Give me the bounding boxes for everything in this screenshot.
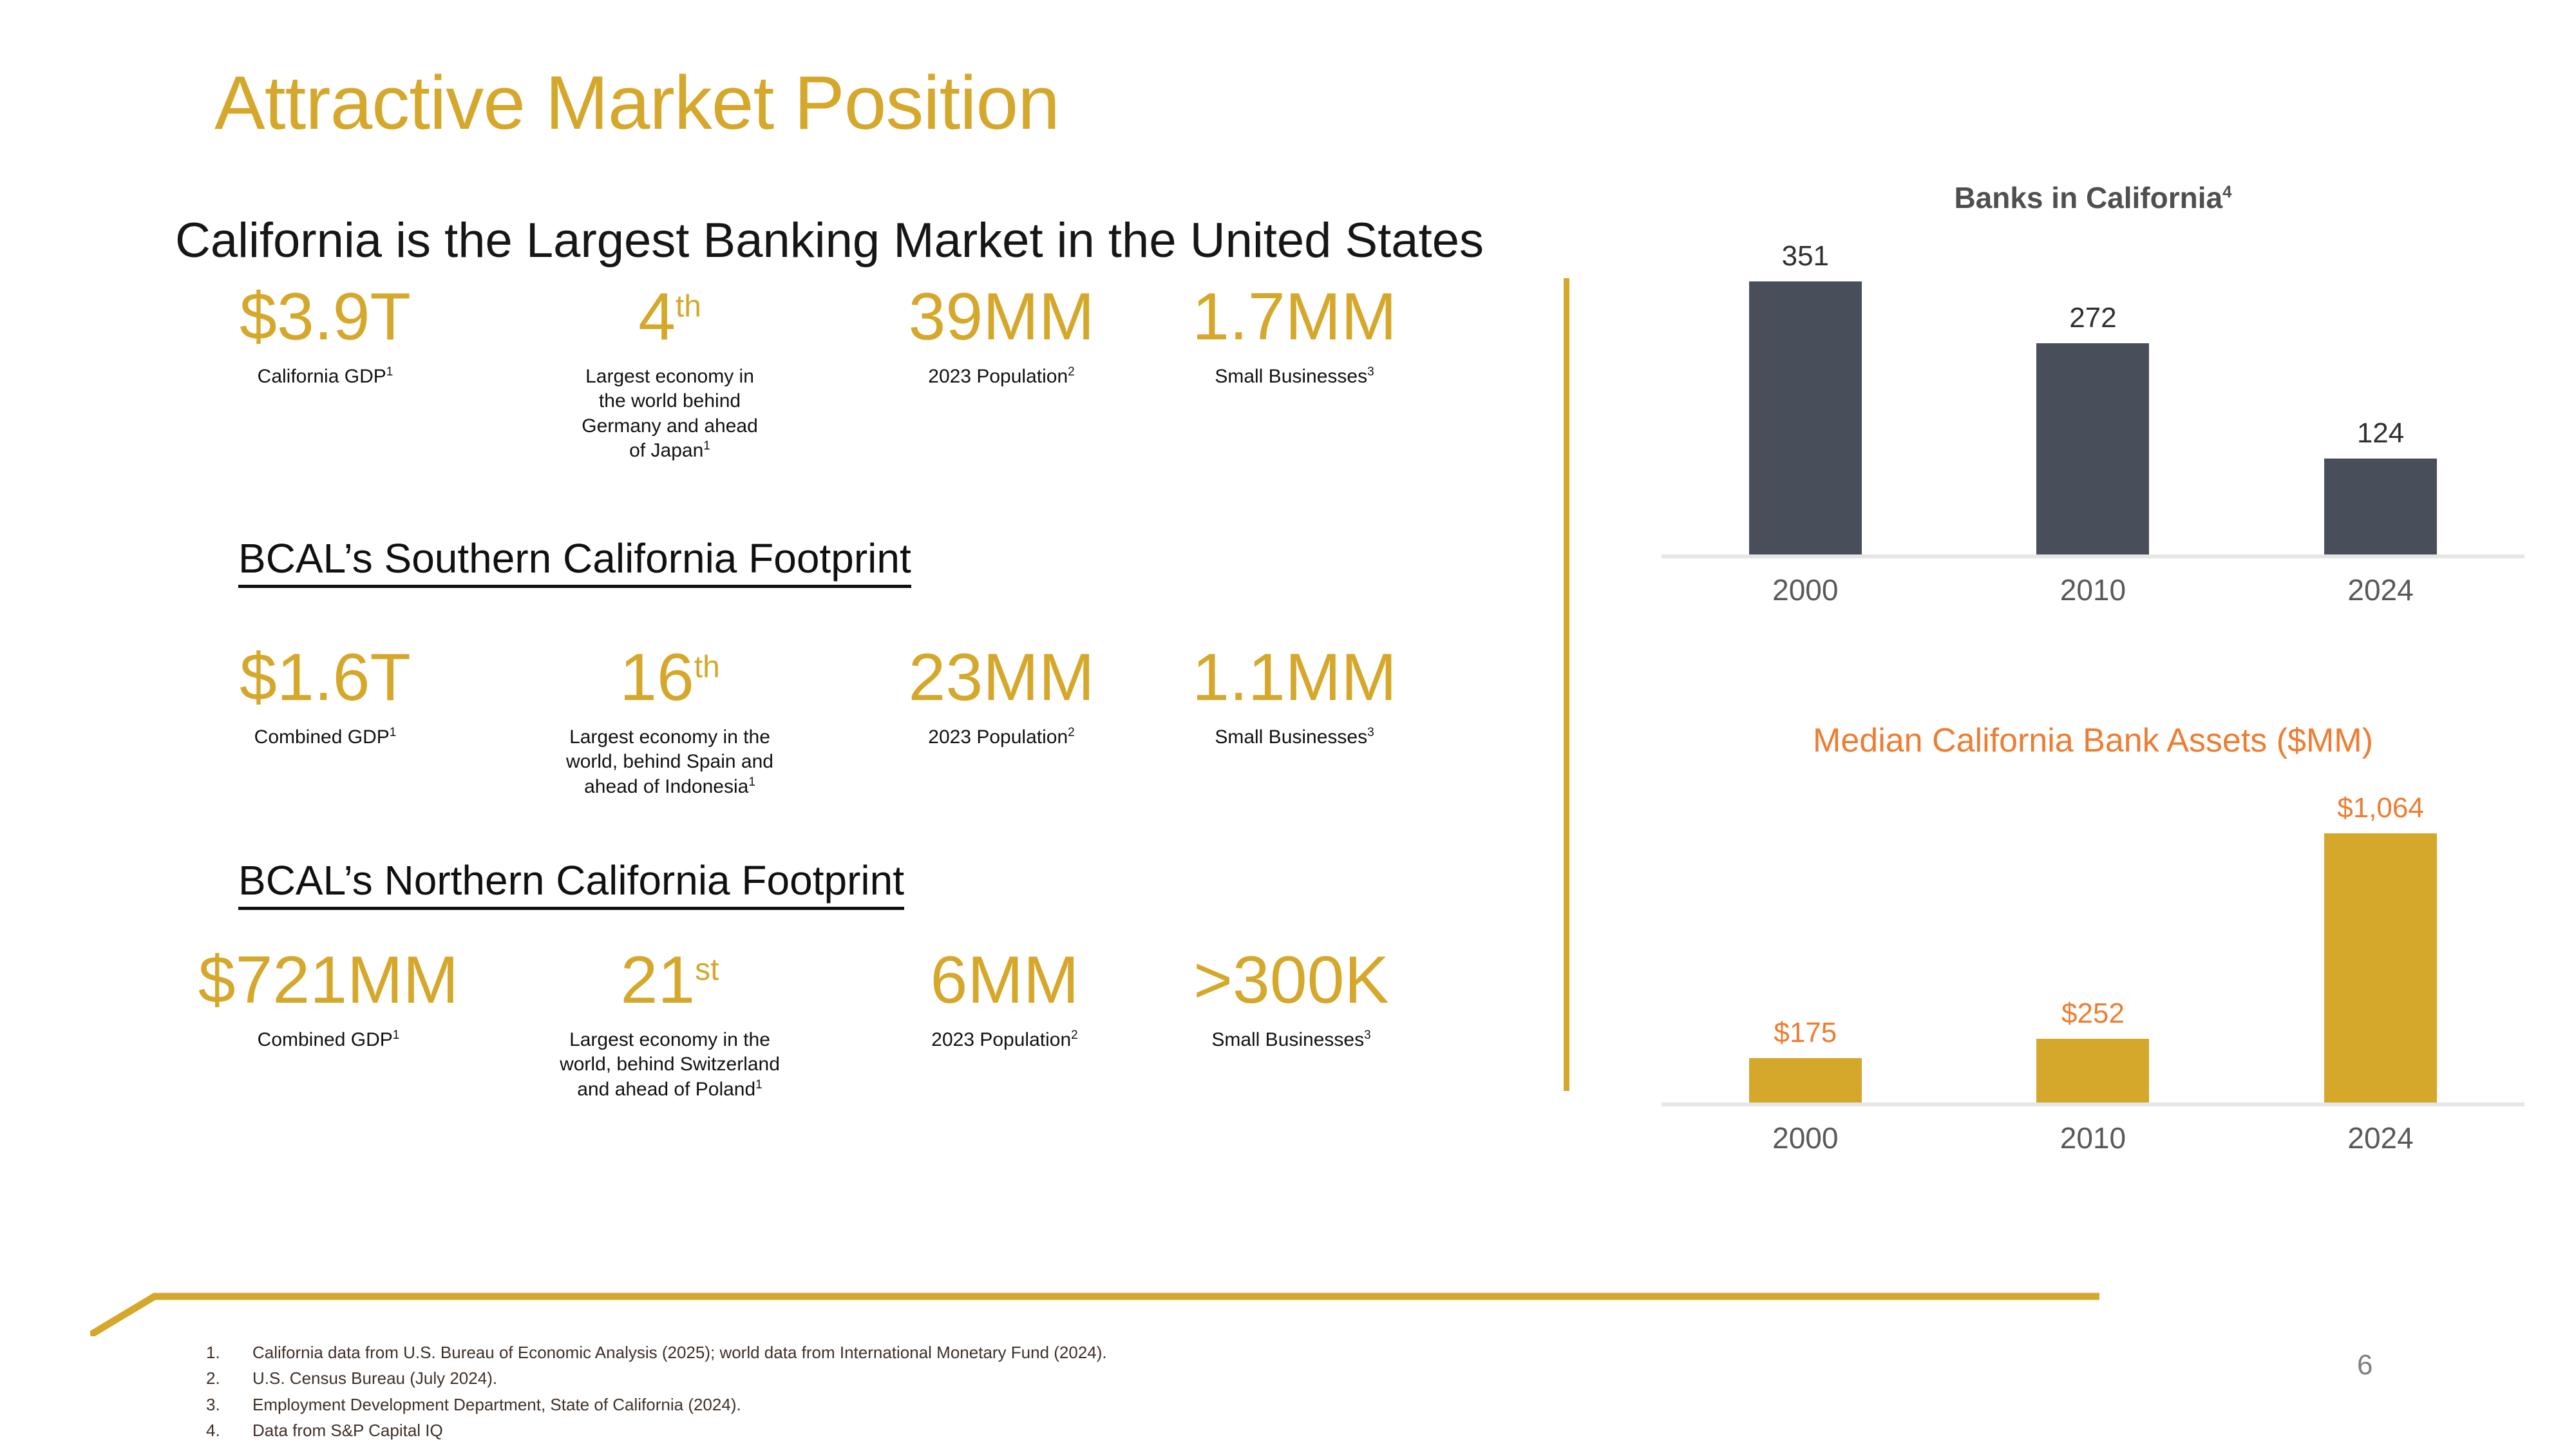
stat-caption: Small Businesses3 — [1159, 365, 1430, 389]
bar-group: 272 — [1949, 229, 2237, 554]
page-number: 6 — [2357, 1349, 2372, 1381]
footnote-item: 2. U.S. Census Bureau (July 2024). — [206, 1365, 1687, 1391]
stat-caption: Combined GDP1 — [200, 725, 451, 750]
footnote-item: 4. Data from S&P Capital IQ — [206, 1417, 1687, 1443]
x-tick-label: 2010 — [1949, 1121, 2237, 1155]
stats-pane: $3.9T California GDP1 4th Largest econom… — [0, 0, 1565, 1449]
stat-california-gdp: $3.9T California GDP1 — [200, 283, 451, 389]
footnote-text: California data from U.S. Bureau of Econ… — [252, 1340, 1687, 1365]
footnotes-list: 1. California data from U.S. Bureau of E… — [206, 1340, 1687, 1443]
stat-value: 39MM — [863, 283, 1140, 350]
bar[interactable] — [2324, 833, 2437, 1103]
section-heading-northern: BCAL’s Northern California Footprint — [238, 857, 904, 910]
stat-value: $3.9T — [200, 283, 451, 350]
stat-caption: 2023 Population2 — [863, 725, 1140, 750]
stat-value: 1.1MM — [1159, 644, 1430, 711]
chart-title: Median California Bank Assets ($MM) — [1662, 721, 2524, 760]
chart-median-california-bank-assets: Median California Bank Assets ($MM) $175… — [1662, 721, 2524, 1198]
bar-group: $252 — [1949, 774, 2237, 1103]
chart-banks-in-california: Banks in California4 351 272 124 2000 20… — [1662, 180, 2524, 657]
footnote-item: 1. California data from U.S. Bureau of E… — [206, 1340, 1687, 1365]
stat-california-rank: 4th Largest economy in the world behind … — [515, 283, 824, 464]
stat-value: 16th — [515, 644, 824, 711]
stat-northern-gdp: $721MM Combined GDP1 — [161, 947, 496, 1052]
stat-value: >300K — [1153, 947, 1430, 1014]
bar[interactable] — [2036, 1039, 2149, 1103]
bar-group: 351 — [1662, 229, 1949, 554]
stat-southern-gdp: $1.6T Combined GDP1 — [200, 644, 451, 750]
chart-plot-area: 351 272 124 — [1662, 233, 2524, 558]
x-axis-labels: 2000 2010 2024 — [1662, 573, 2524, 618]
stat-caption: Combined GDP1 — [161, 1028, 496, 1052]
stat-value: 21st — [509, 947, 831, 1014]
bar-group: $175 — [1662, 774, 1949, 1103]
footnote-text: Data from S&P Capital IQ — [252, 1417, 1687, 1443]
stat-value: $1.6T — [200, 644, 451, 711]
stat-southern-rank: 16th Largest economy in the world, behin… — [515, 644, 824, 799]
x-tick-label: 2010 — [1949, 573, 2237, 607]
stat-caption: Largest economy in the world, behind Swi… — [509, 1028, 831, 1102]
stat-caption: California GDP1 — [200, 365, 451, 389]
footnote-text: Employment Development Department, State… — [252, 1392, 1687, 1417]
chart-plot-area: $175 $252 $1,064 — [1662, 778, 2524, 1106]
stat-northern-rank: 21st Largest economy in the world, behin… — [509, 947, 831, 1102]
stat-caption: Largest economy in the world, behind Spa… — [515, 725, 824, 799]
x-axis-line — [1662, 554, 2524, 558]
stat-row-california: $3.9T California GDP1 4th Largest econom… — [0, 283, 1417, 489]
x-tick-label: 2024 — [2237, 1121, 2524, 1155]
stat-northern-small-businesses: >300K Small Businesses3 — [1153, 947, 1430, 1052]
x-tick-label: 2000 — [1662, 573, 1949, 607]
bar[interactable] — [1749, 1058, 1862, 1103]
bar-value-label: $1,064 — [2337, 792, 2424, 824]
footnote-number: 4. — [206, 1417, 252, 1443]
stat-caption: Small Businesses3 — [1153, 1028, 1430, 1052]
bar[interactable] — [2036, 343, 2149, 554]
stat-value: 4th — [515, 283, 824, 350]
vertical-divider — [1564, 278, 1569, 1091]
stat-northern-population: 6MM 2023 Population2 — [869, 947, 1140, 1052]
stat-value: 1.7MM — [1159, 283, 1430, 350]
footnote-number: 3. — [206, 1392, 252, 1417]
chart-title: Banks in California4 — [1662, 180, 2524, 215]
x-tick-label: 2000 — [1662, 1121, 1949, 1155]
stat-row-northern: $721MM Combined GDP1 21st Largest econom… — [0, 947, 1417, 1153]
stat-california-population: 39MM 2023 Population2 — [863, 283, 1140, 389]
x-axis-line — [1662, 1103, 2524, 1106]
x-tick-label: 2024 — [2237, 573, 2524, 607]
footnote-number: 2. — [206, 1365, 252, 1391]
stat-caption: 2023 Population2 — [863, 365, 1140, 389]
bar[interactable] — [2324, 459, 2437, 554]
stat-caption: Small Businesses3 — [1159, 725, 1430, 750]
stat-california-small-businesses: 1.7MM Small Businesses3 — [1159, 283, 1430, 389]
footnote-text: U.S. Census Bureau (July 2024). — [252, 1365, 1687, 1391]
x-axis-labels: 2000 2010 2024 — [1662, 1121, 2524, 1166]
bar-value-label: 272 — [2069, 302, 2116, 334]
stat-southern-population: 23MM 2023 Population2 — [863, 644, 1140, 750]
stat-value: 6MM — [869, 947, 1140, 1014]
bar-value-label: $175 — [1774, 1017, 1837, 1049]
stat-value: 23MM — [863, 644, 1140, 711]
stat-caption: 2023 Population2 — [869, 1028, 1140, 1052]
bar-value-label: $252 — [2061, 998, 2125, 1030]
footnote-item: 3. Employment Development Department, St… — [206, 1392, 1687, 1417]
bar-value-label: 351 — [1782, 240, 1829, 272]
section-heading-southern: BCAL’s Southern California Footprint — [238, 535, 911, 588]
footnote-number: 1. — [206, 1340, 252, 1365]
stat-value: $721MM — [161, 947, 496, 1014]
stat-caption: Largest economy in the world behind Germ… — [515, 365, 824, 464]
stat-row-southern: $1.6T Combined GDP1 16th Largest economy… — [0, 644, 1417, 850]
bar-group: 124 — [2237, 229, 2524, 554]
bar-value-label: 124 — [2357, 417, 2404, 450]
bar-group: $1,064 — [2237, 774, 2524, 1103]
bar[interactable] — [1749, 281, 1862, 554]
stat-southern-small-businesses: 1.1MM Small Businesses3 — [1159, 644, 1430, 750]
